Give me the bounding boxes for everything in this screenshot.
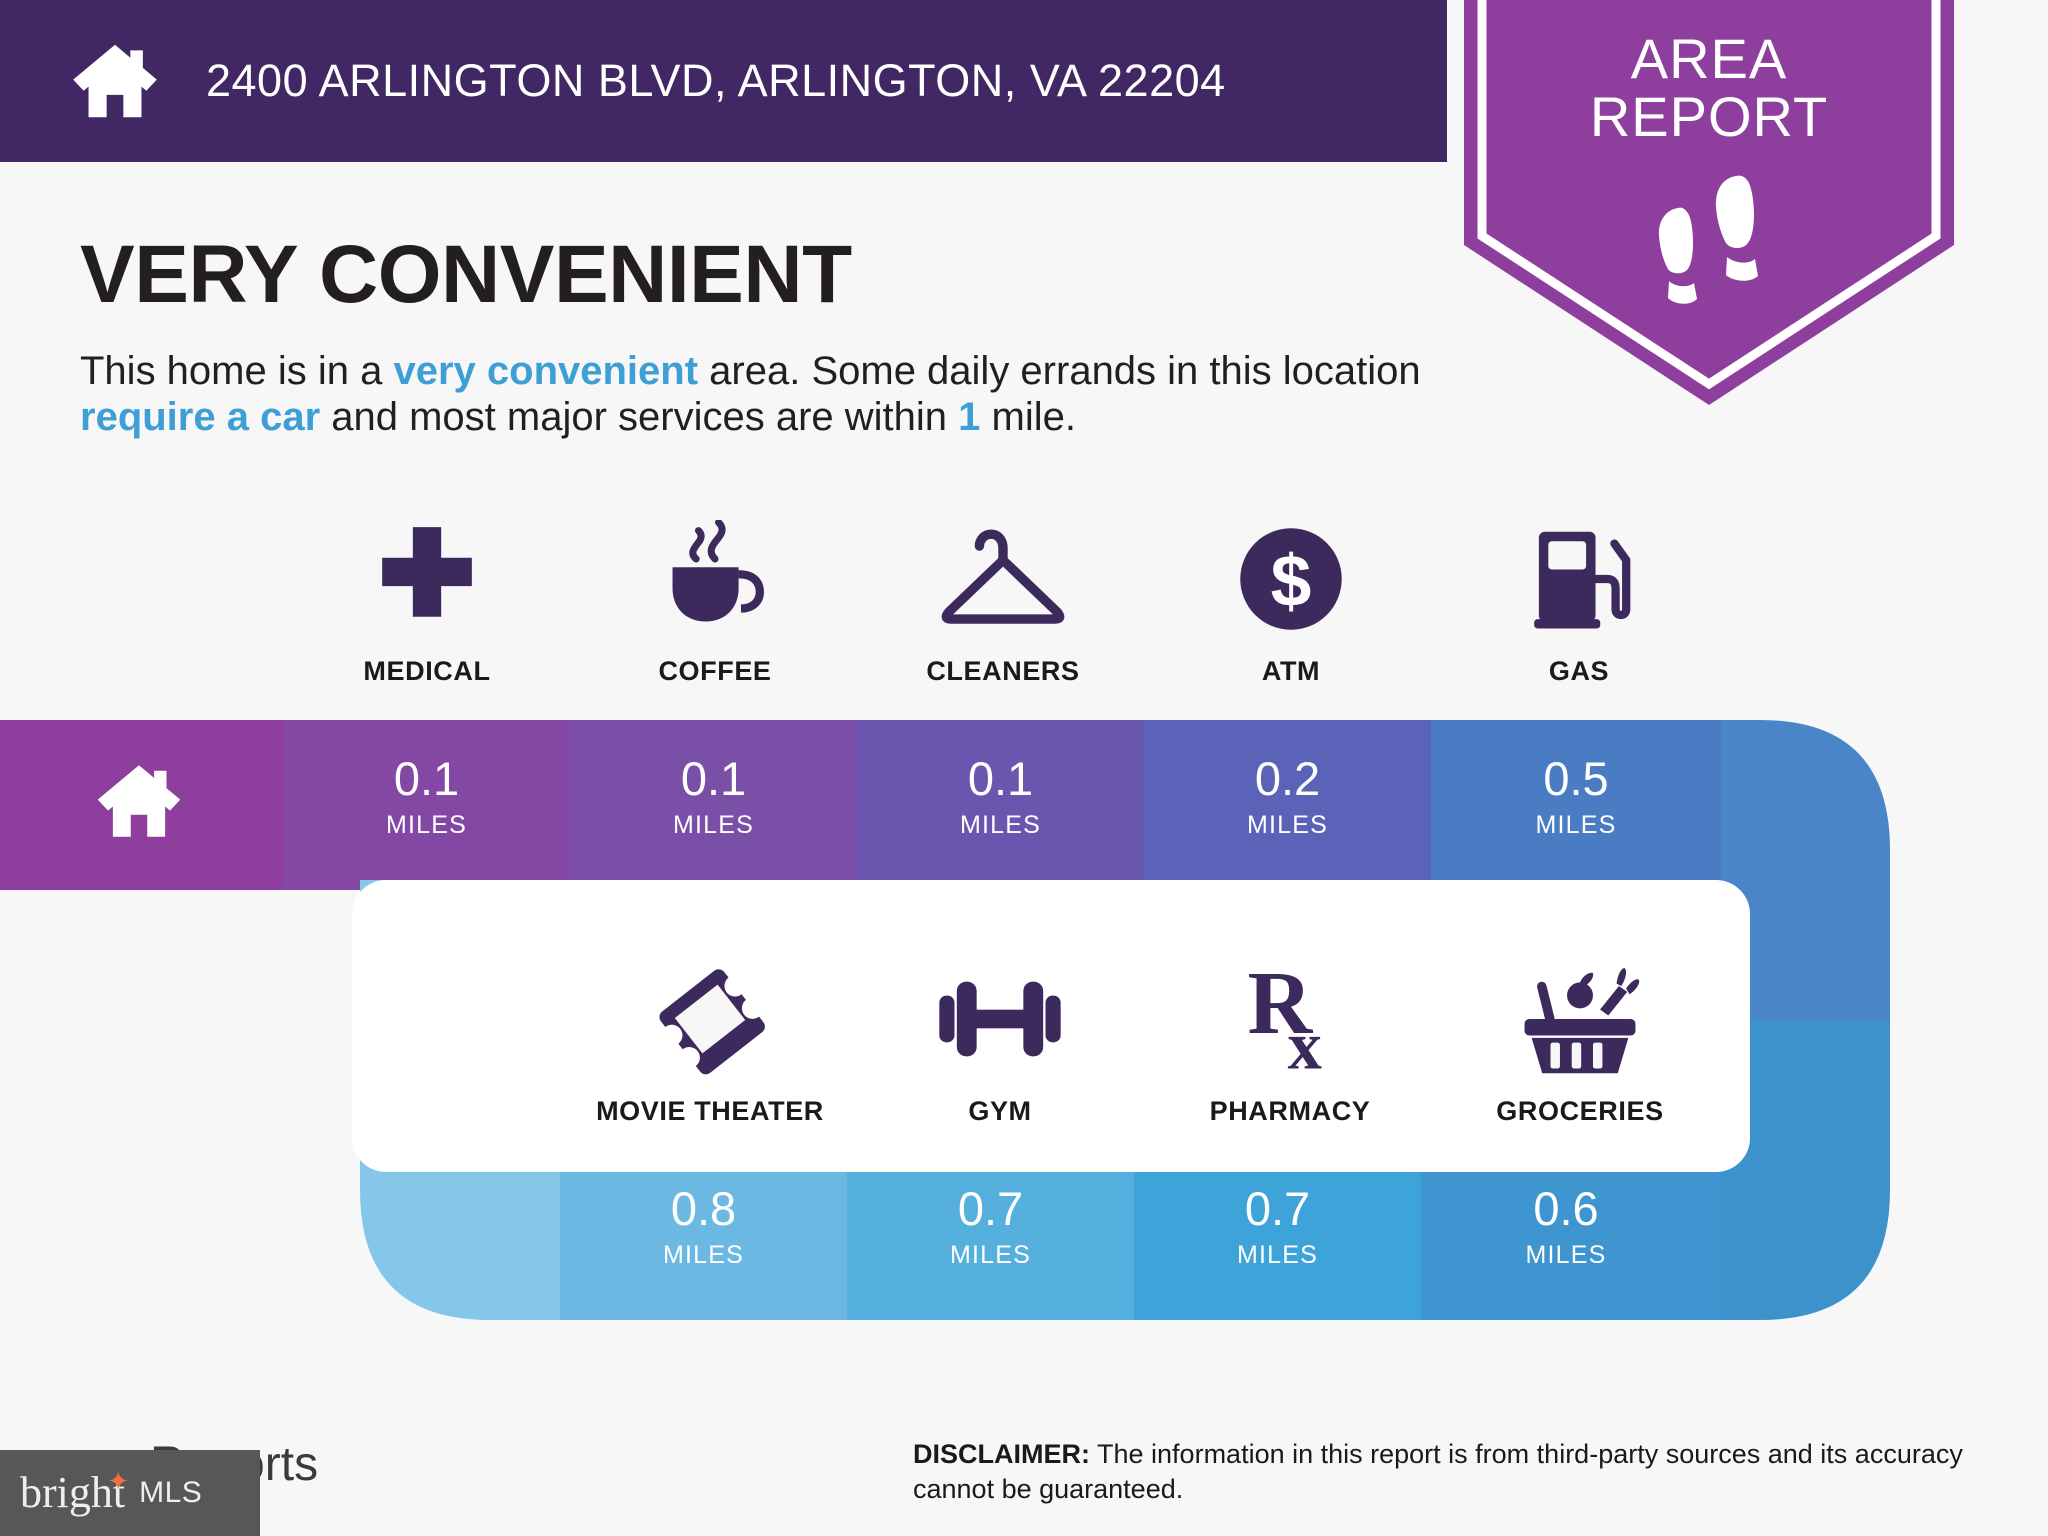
amenity-gas[interactable]: GAS [1435, 520, 1723, 687]
bar-segment-gym [847, 1150, 1134, 1340]
summary-part-4: mile. [980, 395, 1076, 439]
home-marker-icon [95, 762, 183, 840]
amenity-label: MOVIE THEATER [596, 1096, 824, 1127]
amenity-label: GYM [968, 1096, 1031, 1127]
bar-segment-coffee [570, 720, 857, 890]
property-address: 2400 ARLINGTON BLVD, ARLINGTON, VA 22204 [206, 55, 1226, 107]
amenity-coffee[interactable]: COFFEE [571, 520, 859, 687]
summary-highlight-3: 1 [958, 395, 980, 439]
bar-segment-groceries [1421, 1150, 1721, 1340]
amenity-label: GROCERIES [1496, 1096, 1663, 1127]
amenity-medical[interactable]: MEDICAL [283, 520, 571, 687]
svg-text:$: $ [1271, 540, 1312, 622]
summary-highlight-1: very convenient [393, 349, 698, 393]
amenity-gym[interactable]: GYM [855, 960, 1145, 1127]
bar-segment-medical [283, 720, 570, 890]
movie-ticket-icon [651, 960, 769, 1078]
amenity-cleaners[interactable]: CLEANERS [859, 520, 1147, 687]
home-icon [70, 42, 160, 120]
amenity-row-primary: MEDICAL COFFEE CLEANERS $ [283, 520, 1723, 687]
amenity-label: CLEANERS [926, 656, 1079, 687]
dollar-circle-icon: $ [1232, 520, 1350, 638]
report-header: 2400 ARLINGTON BLVD, ARLINGTON, VA 22204 [0, 0, 1447, 162]
amenity-label: COFFEE [658, 656, 771, 687]
amenity-row-secondary: MOVIE THEATER GYM R x PHARMACY [565, 960, 1725, 1127]
logo-wordmark: bright ✦ [20, 1471, 125, 1515]
svg-text:x: x [1288, 1008, 1322, 1078]
badge-label: AREA REPORT [1464, 30, 1954, 146]
amenity-label: GAS [1549, 656, 1609, 687]
amenity-atm[interactable]: $ ATM [1147, 520, 1435, 687]
summary-text: This home is in a very convenient area. … [80, 348, 1450, 441]
disclaimer: DISCLAIMER: The information in this repo… [913, 1437, 1968, 1506]
amenity-label: PHARMACY [1210, 1096, 1371, 1127]
disclaimer-label: DISCLAIMER: [913, 1439, 1090, 1469]
coffee-cup-icon [656, 520, 774, 638]
badge-line-1: AREA [1464, 30, 1954, 88]
amenity-groceries[interactable]: GROCERIES [1435, 960, 1725, 1127]
bar-segment-gas [1431, 720, 1721, 890]
logo-mls-text: MLS [139, 1476, 202, 1510]
bright-mls-logo: bright ✦ MLS [0, 1450, 260, 1536]
badge-line-2: REPORT [1464, 88, 1954, 146]
summary-part-2: area. Some daily errands in this locatio… [698, 349, 1421, 393]
logo-star-icon: ✦ [107, 1469, 129, 1495]
grocery-basket-icon [1515, 960, 1645, 1078]
bar-segment-pharmacy [1134, 1150, 1421, 1340]
summary-part-1: This home is in a [80, 349, 393, 393]
bar-turn-upper [1721, 720, 2021, 1020]
summary-highlight-2: require a car [80, 395, 320, 439]
amenity-label: ATM [1262, 656, 1320, 687]
rx-icon: R x [1231, 960, 1349, 1078]
clothes-hanger-icon [937, 520, 1069, 638]
page-title: VERY CONVENIENT [80, 228, 852, 322]
gas-pump-icon [1520, 520, 1638, 638]
bar-segment-movie [560, 1150, 847, 1340]
bar-segment-cleaners [857, 720, 1144, 890]
area-report-badge: AREA REPORT [1464, 0, 1954, 405]
bar-segment-atm [1144, 720, 1431, 890]
bar-turn-lower [1721, 1020, 2021, 1340]
amenity-label: MEDICAL [363, 656, 490, 687]
amenity-movie-theater[interactable]: MOVIE THEATER [565, 960, 855, 1127]
dumbbell-icon [930, 960, 1070, 1078]
amenity-pharmacy[interactable]: R x PHARMACY [1145, 960, 1435, 1127]
medical-cross-icon [368, 520, 486, 638]
summary-part-3: and most major services are within [320, 395, 958, 439]
bar-segment-left-turn [300, 1150, 560, 1340]
